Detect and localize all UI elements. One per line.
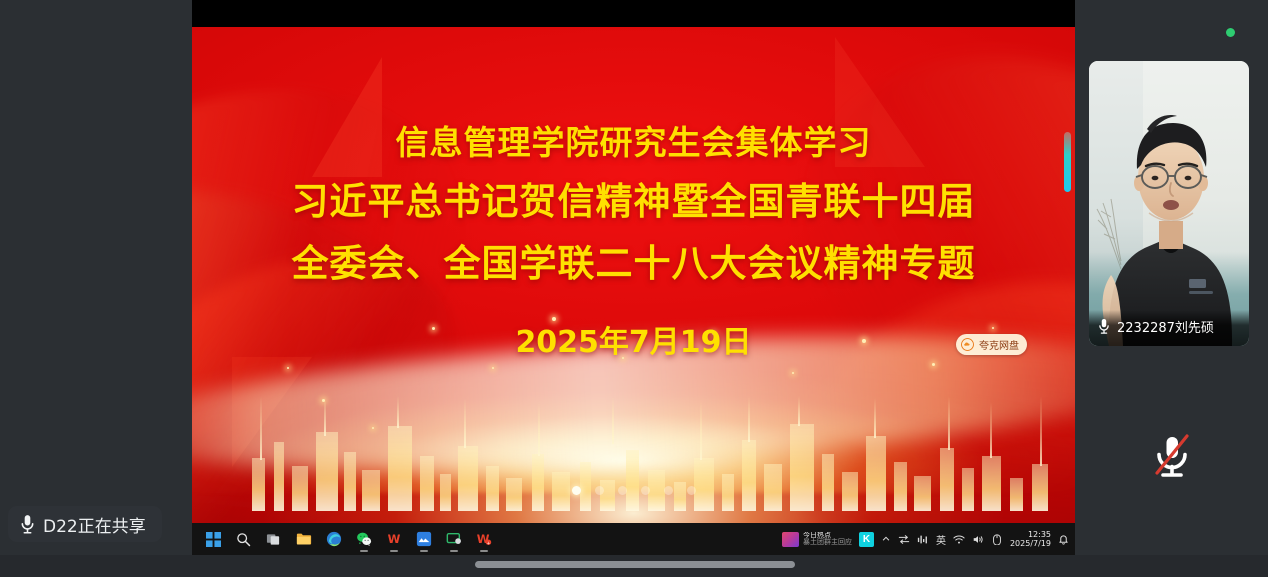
news-weather-widget[interactable]: 今日热点 暴土团群主回应 [782, 532, 852, 547]
slide-dot-5[interactable] [664, 486, 673, 495]
wps-office-icon[interactable]: W + [470, 526, 497, 553]
clock-time: 12:35 [1010, 530, 1051, 539]
watermark-label: 夸克网盘 [979, 337, 1019, 352]
news-thumbnail-icon [782, 532, 799, 547]
participant-avatar [1089, 61, 1249, 346]
shared-screen-region[interactable]: 信息管理学院研究生会集体学习 习近平总书记贺信精神暨全国青联十四届 全委会、全国… [192, 0, 1075, 555]
notification-bell-icon[interactable] [1058, 534, 1069, 545]
cloud-icon [961, 338, 974, 351]
slide-dot-2[interactable] [595, 486, 604, 495]
wps-writer-icon[interactable]: W [380, 526, 407, 553]
slide-dot-3[interactable] [618, 486, 627, 495]
recording-status-dot [1226, 28, 1235, 37]
news-subtitle: 暴土团群主回应 [803, 539, 852, 546]
baidu-netdisk-icon[interactable] [410, 526, 437, 553]
volume-icon[interactable] [972, 534, 984, 545]
horizontal-scrollbar-track[interactable] [0, 555, 1268, 577]
file-explorer-icon[interactable] [290, 526, 317, 553]
slide-title-line-3: 全委会、全国学联二十八大会议精神专题 [192, 233, 1075, 295]
chevron-up-icon[interactable] [881, 534, 891, 544]
svg-text:+: + [486, 540, 490, 546]
screen-share-indicator[interactable]: D22正在共享 [8, 506, 162, 542]
svg-text:W: W [387, 532, 400, 546]
network-transfer-icon[interactable] [898, 534, 910, 545]
slide-title-line-1: 信息管理学院研究生会集体学习 [192, 115, 1075, 171]
news-text: 今日热点 暴土团群主回应 [803, 532, 852, 547]
taskbar-system-tray[interactable]: 今日热点 暴土团群主回应 K [782, 530, 1075, 548]
meeting-screen-share-window: 信息管理学院研究生会集体学习 习近平总书记贺信精神暨全国青联十四届 全委会、全国… [0, 0, 1268, 577]
participant-video-tile[interactable]: 2232287刘先硕 [1089, 61, 1249, 346]
search-icon[interactable] [230, 526, 257, 553]
news-title: 今日热点 [803, 532, 852, 539]
language-indicator[interactable]: 英 [936, 532, 946, 547]
signal-bars-icon[interactable] [917, 534, 929, 545]
quark-netdisk-watermark: 夸克网盘 [956, 334, 1027, 355]
windows-taskbar[interactable]: W W [192, 523, 1075, 555]
participant-name: 2232287刘先硕 [1117, 317, 1214, 336]
slide-date: 2025年7月19日 [192, 317, 1075, 361]
taskbar-pinned-apps[interactable]: W W [192, 526, 497, 553]
screen-share-icon[interactable] [440, 526, 467, 553]
taskbar-clock[interactable]: 12:35 2025/7/19 [1010, 530, 1051, 548]
microphone-icon [1098, 318, 1110, 335]
share-indicator-label: D22正在共享 [43, 512, 146, 537]
slide-vertical-scrollbar[interactable] [1064, 132, 1071, 192]
slide-dot-6[interactable] [687, 486, 696, 495]
shared-screen-letterbox-top [192, 0, 1075, 27]
microphone-muted-icon[interactable] [1150, 432, 1194, 480]
participant-name-bar: 2232287刘先硕 [1089, 310, 1249, 346]
presentation-slide[interactable]: 信息管理学院研究生会集体学习 习近平总书记贺信精神暨全国青联十四届 全委会、全国… [192, 27, 1075, 523]
task-view-icon[interactable] [260, 526, 287, 553]
slide-dot-1[interactable] [572, 486, 581, 495]
slide-title-block: 信息管理学院研究生会集体学习 习近平总书记贺信精神暨全国青联十四届 全委会、全国… [192, 115, 1075, 361]
horizontal-scrollbar-thumb[interactable] [475, 561, 795, 568]
slide-dot-4[interactable] [641, 486, 650, 495]
edge-browser-icon[interactable] [320, 526, 347, 553]
ime-badge-icon[interactable]: K [859, 532, 874, 547]
slide-navigation-dots[interactable] [192, 486, 1075, 495]
wechat-icon[interactable] [350, 526, 377, 553]
wifi-icon[interactable] [953, 534, 965, 545]
slide-title-line-2: 习近平总书记贺信精神暨全国青联十四届 [192, 171, 1075, 233]
windows-start-icon[interactable] [200, 526, 227, 553]
clock-date: 2025/7/19 [1010, 539, 1051, 548]
battery-icon[interactable] [991, 534, 1003, 545]
microphone-icon [20, 514, 35, 535]
